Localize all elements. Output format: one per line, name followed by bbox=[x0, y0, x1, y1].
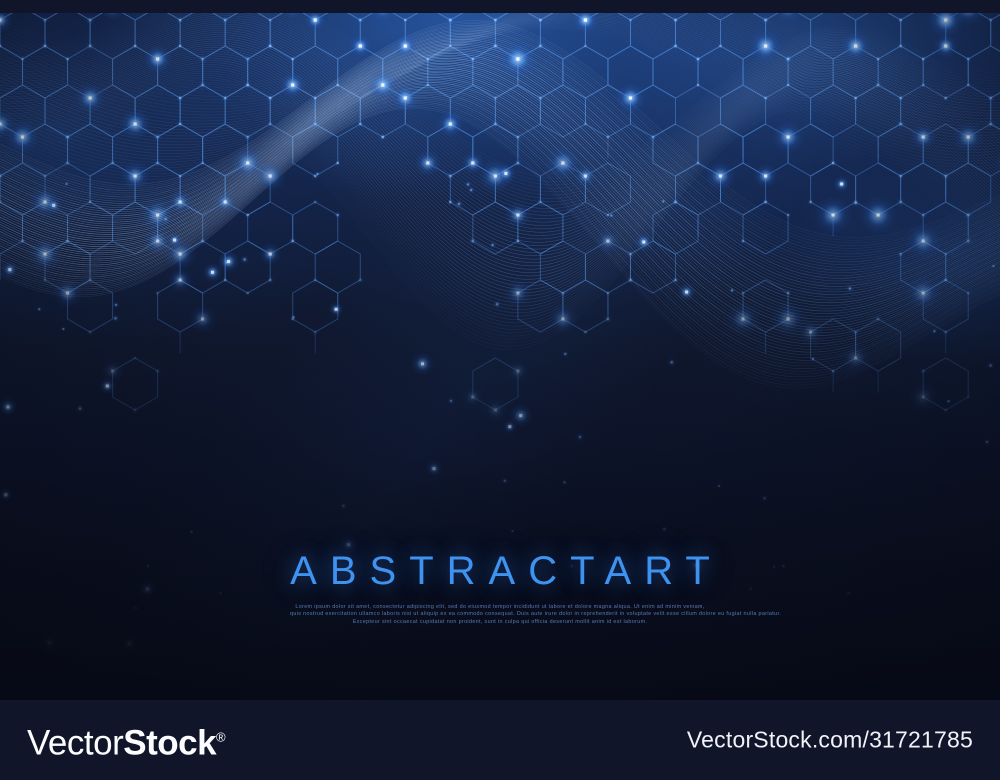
artwork-canvas: ABSTRACTART Lorem ipsum dolor sit amet, … bbox=[0, 0, 1000, 700]
vectorstock-logo: VectorStock® bbox=[27, 720, 226, 761]
vectorstock-watermark-bar: VectorStock® VectorStock.com/31721785 bbox=[0, 700, 1000, 780]
top-border-strip bbox=[0, 0, 1000, 13]
body-line-1: Lorem ipsum dolor sit amet, consectetur … bbox=[290, 604, 710, 611]
logo-text-stock: Stock bbox=[123, 723, 216, 762]
body-line-2: quis nostrud exercitation ullamco labori… bbox=[290, 611, 710, 618]
screenshot-root: ABSTRACTART Lorem ipsum dolor sit amet, … bbox=[0, 0, 1000, 780]
artwork-title: ABSTRACTART bbox=[0, 548, 1000, 594]
caption-block: ABSTRACTART Lorem ipsum dolor sit amet, … bbox=[0, 548, 1000, 626]
body-line-3: Excepteur sint occaecat cupidatat non pr… bbox=[290, 619, 710, 626]
logo-text-vector: Vector bbox=[27, 723, 123, 762]
watermark-url: VectorStock.com/31721785 bbox=[687, 727, 973, 754]
artwork-body-text: Lorem ipsum dolor sit amet, consectetur … bbox=[290, 604, 710, 626]
registered-trademark-icon: ® bbox=[216, 730, 226, 745]
